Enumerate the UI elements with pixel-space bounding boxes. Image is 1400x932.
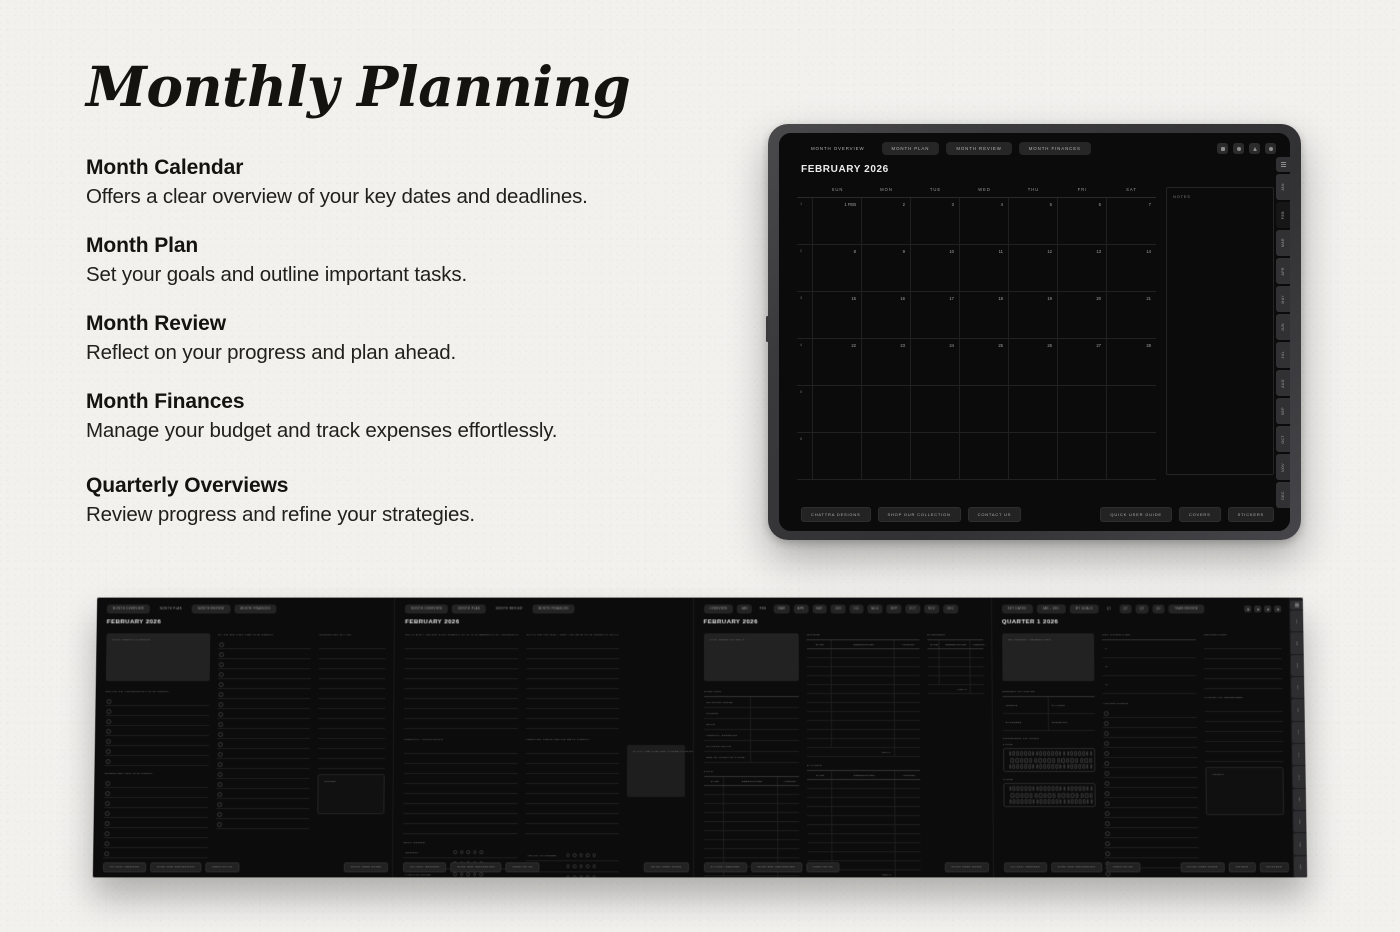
notes-box[interactable]: NOTES (1205, 767, 1284, 815)
tab-month-finances[interactable]: MONTH FINANCES (532, 605, 574, 614)
rating-dot[interactable] (573, 854, 577, 858)
habit-checkbox[interactable] (1040, 786, 1043, 791)
table-cell[interactable] (725, 849, 779, 857)
footer-chattra-designs[interactable]: CHATTRA DESIGNS (704, 862, 747, 872)
calendar-day-cell[interactable] (1107, 433, 1156, 479)
table-row[interactable] (704, 849, 800, 858)
habit-checkbox[interactable] (1017, 786, 1020, 791)
habit-checkbox[interactable] (1066, 793, 1069, 798)
tab-nov[interactable]: NOV (924, 605, 939, 614)
calendar-day-cell[interactable]: 16 (862, 292, 911, 338)
write-line[interactable] (1204, 732, 1283, 742)
habit-checkbox[interactable] (1075, 757, 1078, 762)
write-line[interactable] (526, 784, 619, 794)
habit-checkbox[interactable] (1020, 764, 1023, 769)
calendar-day-cell[interactable]: 11 (960, 245, 1009, 291)
checkbox-line[interactable] (1104, 788, 1198, 798)
habit-checkbox[interactable] (1013, 764, 1016, 769)
calendar-day-cell[interactable] (1009, 386, 1058, 432)
footer-quick-user-guide[interactable]: QUICK USER GUIDE (344, 862, 388, 872)
habit-checkbox[interactable] (1009, 751, 1012, 756)
tab-q1[interactable]: Q1 (1103, 605, 1116, 614)
tab-jun[interactable]: JUN (831, 605, 846, 614)
habit-checkbox[interactable] (1040, 751, 1043, 756)
table-row[interactable] (807, 780, 920, 789)
table-cell[interactable] (895, 798, 920, 806)
write-line[interactable] (404, 764, 518, 774)
write-line[interactable] (318, 739, 385, 749)
overview-row-value[interactable] (751, 719, 799, 729)
table-cell[interactable] (895, 789, 920, 797)
table-cell[interactable] (831, 658, 894, 666)
overview-row-value[interactable] (751, 697, 799, 707)
write-line[interactable] (526, 719, 619, 729)
table-row[interactable] (927, 667, 983, 676)
calendar-day-cell[interactable]: 9 (862, 245, 911, 291)
checkbox-line[interactable] (216, 759, 309, 769)
table-row[interactable] (807, 739, 920, 748)
habit-checkbox[interactable] (1051, 764, 1054, 769)
habit-checkbox[interactable] (1071, 764, 1074, 769)
table-cell[interactable] (807, 658, 832, 666)
habit-checkbox[interactable] (1062, 793, 1065, 798)
write-line[interactable] (318, 729, 385, 739)
table-cell[interactable] (895, 739, 920, 747)
checkbox-line[interactable] (1103, 708, 1196, 718)
habit-checkbox[interactable] (1009, 786, 1012, 791)
table-cell[interactable] (725, 831, 778, 839)
checkbox-line[interactable] (103, 828, 207, 838)
calendar-day-cell[interactable]: 13 (1058, 245, 1107, 291)
table-cell[interactable] (807, 825, 832, 833)
menu-icon[interactable] (1290, 601, 1303, 610)
side-tab-oct[interactable]: OCT (1293, 811, 1306, 832)
habit-checkbox[interactable] (1013, 799, 1016, 804)
tab-year-review[interactable]: YEAR REVIEW (1169, 605, 1205, 614)
write-line[interactable] (526, 699, 619, 709)
table-row[interactable] (704, 795, 799, 804)
table-row[interactable] (807, 843, 920, 852)
habit-checkbox[interactable] (1055, 764, 1058, 769)
table-cell[interactable] (895, 852, 920, 860)
habit-checkbox[interactable] (1009, 799, 1012, 804)
table-row[interactable] (704, 831, 800, 840)
write-line[interactable] (526, 689, 619, 699)
rating-dot[interactable] (566, 876, 570, 878)
self-score-row[interactable] (525, 872, 618, 877)
rating-dot[interactable] (592, 876, 596, 878)
table-row[interactable] (927, 676, 983, 685)
tab-jan-dec[interactable]: JAN - DEC (1036, 605, 1065, 614)
write-line[interactable] (318, 699, 385, 709)
checkbox-line[interactable] (216, 819, 310, 829)
table-cell[interactable] (807, 807, 832, 815)
write-line[interactable] (1204, 659, 1282, 669)
table-cell[interactable] (831, 685, 894, 693)
habit-checkbox[interactable] (1039, 793, 1042, 798)
table-cell[interactable] (778, 804, 799, 812)
habit-checkbox[interactable] (1075, 799, 1078, 804)
habit-checkbox[interactable] (1071, 799, 1074, 804)
table-cell[interactable] (832, 712, 895, 720)
calendar-day-cell[interactable]: 2 (862, 198, 911, 244)
tab-q4[interactable]: Q4 (1152, 605, 1165, 614)
table-cell[interactable] (832, 852, 895, 860)
write-line[interactable] (318, 759, 385, 769)
budget-cell-income[interactable]: INCOME (1002, 697, 1048, 713)
write-line[interactable] (526, 814, 619, 824)
habit-checkbox[interactable] (1090, 786, 1093, 791)
table-cell[interactable] (832, 843, 895, 851)
tab-month-finances[interactable]: MONTH FINANCES (1019, 142, 1091, 155)
calendar-day-cell[interactable]: 21 (1107, 292, 1156, 338)
checkbox-line[interactable] (218, 649, 311, 659)
write-line[interactable] (404, 774, 518, 784)
side-tab-apr[interactable]: APR (1291, 677, 1304, 698)
rating-dots[interactable] (454, 850, 484, 854)
self-score-row[interactable]: GROWTH (403, 847, 517, 858)
habit-checkbox[interactable] (1078, 751, 1081, 756)
footer-contact-us[interactable]: CONTACT US (968, 507, 1022, 522)
table-cell[interactable] (895, 721, 920, 729)
important-days-lines[interactable] (318, 639, 386, 769)
habit-checkbox[interactable] (1048, 786, 1051, 791)
table-cell[interactable] (832, 816, 895, 824)
overview-row[interactable]: SAVINGS GOALS (704, 741, 799, 752)
table-cell[interactable] (832, 789, 895, 797)
side-tab-aug[interactable]: AUG (1276, 370, 1290, 396)
table-cell[interactable] (895, 730, 920, 738)
table-cell[interactable] (832, 798, 895, 806)
intention-lines[interactable] (103, 778, 208, 858)
write-line[interactable] (404, 709, 518, 719)
top-priorities-list[interactable]: 1. 2. 3. (1102, 639, 1196, 694)
checkbox-line[interactable] (105, 736, 209, 746)
checkbox-line[interactable] (105, 726, 209, 736)
tab-month-plan[interactable]: MONTH PLAN (882, 142, 940, 155)
footer-covers[interactable]: COVERS (1228, 862, 1255, 872)
savings-table[interactable]: DATEDESCRIPTIONAMOUNTTOTAL (807, 770, 921, 877)
table-cell[interactable] (704, 831, 725, 839)
table-cell[interactable] (927, 649, 939, 657)
checkbox-line[interactable] (1104, 818, 1198, 828)
write-line[interactable] (405, 639, 519, 649)
write-line[interactable] (405, 679, 519, 689)
highlights-lines[interactable] (404, 744, 518, 834)
table-cell[interactable] (831, 667, 894, 675)
this-months-goal-box[interactable]: THIS MONTH'S GOAL (703, 633, 798, 681)
calendar-day-cell[interactable] (862, 433, 911, 479)
write-line[interactable] (1204, 712, 1283, 722)
habit-checkbox[interactable] (1020, 793, 1023, 798)
habit-checkbox[interactable] (1079, 799, 1082, 804)
calendar-day-cell[interactable]: 20 (1058, 292, 1107, 338)
side-tab-nov[interactable]: NOV (1293, 833, 1306, 854)
checkbox-line[interactable] (216, 779, 310, 789)
table-row[interactable] (807, 789, 920, 798)
footer-chattra-designs[interactable]: CHATTRA DESIGNS (801, 507, 871, 522)
table-cell[interactable] (895, 807, 920, 815)
overview-row-value[interactable] (751, 708, 799, 718)
calendar-day-cell[interactable]: 4 (960, 198, 1009, 244)
write-line[interactable] (318, 689, 385, 699)
table-cell[interactable] (704, 849, 725, 857)
total-value[interactable] (778, 876, 799, 877)
side-tab-jun[interactable]: JUN (1276, 314, 1290, 340)
write-line[interactable] (1203, 639, 1281, 649)
write-line[interactable] (526, 649, 619, 659)
table-cell[interactable] (724, 804, 777, 812)
footer-shop-our-collection[interactable]: SHOP OUR COLLECTION (878, 507, 961, 522)
table-cell[interactable] (778, 831, 799, 839)
overview-row[interactable]: STARTING FUNDS (703, 697, 798, 708)
overview-row[interactable]: BILLS (703, 719, 798, 730)
footer-chattra-designs[interactable]: CHATTRA DESIGNS (1004, 862, 1047, 872)
habit-checkbox[interactable] (1044, 799, 1047, 804)
table-cell[interactable] (940, 658, 971, 666)
checkbox-line[interactable] (1104, 798, 1198, 808)
table-cell[interactable] (724, 795, 777, 803)
table-cell[interactable] (778, 849, 799, 857)
table-cell[interactable] (927, 667, 939, 675)
table-cell[interactable] (895, 843, 920, 851)
write-line[interactable] (404, 824, 518, 834)
table-cell[interactable] (778, 795, 799, 803)
table-cell[interactable] (971, 667, 983, 675)
habit-checkbox[interactable] (1020, 751, 1023, 756)
table-cell[interactable] (807, 649, 832, 657)
habit-checkbox[interactable] (1063, 751, 1066, 756)
side-tab-jun[interactable]: JUN (1292, 722, 1305, 743)
table-row[interactable] (807, 807, 920, 816)
write-line[interactable] (526, 824, 619, 834)
budget-cell-savings[interactable]: SAVINGS (1049, 697, 1095, 713)
table-cell[interactable] (832, 780, 895, 788)
table-cell[interactable] (831, 649, 894, 657)
checkbox-line[interactable] (104, 798, 208, 808)
habit-checkbox[interactable] (1015, 757, 1018, 762)
tab-q3[interactable]: Q3 (1136, 605, 1149, 614)
calendar-day-cell[interactable] (813, 433, 862, 479)
habit-checkbox[interactable] (1067, 799, 1070, 804)
table-row[interactable] (807, 703, 920, 712)
habit-checkbox[interactable] (1059, 764, 1062, 769)
habit-checkbox[interactable] (1051, 751, 1054, 756)
habit-checkbox[interactable] (1011, 757, 1014, 762)
table-cell[interactable] (895, 816, 920, 824)
write-line[interactable] (526, 804, 619, 814)
table-cell[interactable] (807, 676, 832, 684)
looking-forward-lines[interactable] (526, 744, 619, 834)
habit-checkbox[interactable] (1020, 757, 1023, 762)
habit-checkbox[interactable] (1036, 751, 1039, 756)
write-line[interactable] (526, 754, 619, 764)
habit-checkbox[interactable] (1071, 757, 1074, 762)
habit-checkbox[interactable] (1016, 793, 1019, 798)
side-tab-apr[interactable]: APR (1276, 258, 1290, 284)
table-row[interactable] (807, 721, 920, 730)
write-line[interactable] (526, 669, 619, 679)
budget-cell-spending[interactable]: SPENDING (1049, 714, 1095, 730)
habit-checkbox[interactable] (1089, 757, 1092, 762)
tab-month-review[interactable]: MONTH REVIEW (490, 605, 528, 614)
budget-planning-table[interactable]: INCOME SAVINGS EXPENSES SPENDING (1002, 696, 1095, 731)
side-tab-mar[interactable]: MAR (1291, 655, 1304, 676)
checkbox-line[interactable] (104, 808, 208, 818)
rating-dot[interactable] (460, 873, 464, 877)
table-row[interactable] (704, 822, 800, 831)
write-line[interactable] (526, 709, 619, 719)
habit-checkbox[interactable] (1048, 799, 1051, 804)
calendar-day-cell[interactable]: 12 (1009, 245, 1058, 291)
table-cell[interactable] (778, 840, 799, 848)
table-cell[interactable] (831, 703, 894, 711)
settings-icon[interactable] (1265, 143, 1276, 154)
checkbox-line[interactable] (103, 838, 207, 848)
table-cell[interactable] (704, 813, 725, 821)
habit-checkbox[interactable] (1032, 764, 1035, 769)
calendar-day-cell[interactable] (1009, 433, 1058, 479)
habit-checkbox[interactable] (1057, 793, 1060, 798)
table-cell[interactable] (894, 649, 919, 657)
calendar-day-cell[interactable]: 3 (911, 198, 960, 244)
habit-checkbox[interactable] (1070, 751, 1073, 756)
checkbox-line[interactable] (216, 799, 310, 809)
rating-dot[interactable] (454, 850, 458, 854)
habit-checkbox[interactable] (1052, 786, 1055, 791)
habit-checkbox[interactable] (1055, 799, 1058, 804)
clock-icon[interactable] (1233, 143, 1244, 154)
habit-checkbox[interactable] (1017, 764, 1020, 769)
habit-checkbox[interactable] (1044, 764, 1047, 769)
camera-icon[interactable] (1217, 143, 1228, 154)
table-cell[interactable] (778, 786, 799, 794)
habit-checkbox[interactable] (1078, 764, 1081, 769)
side-tab-sep[interactable]: SEP (1276, 398, 1290, 424)
table-row[interactable] (807, 685, 920, 694)
budget-cell-expenses[interactable]: EXPENSES (1003, 714, 1049, 730)
habit-checkbox[interactable] (1043, 793, 1046, 798)
footer-quick-user-guide[interactable]: QUICK USER GUIDE (944, 862, 988, 872)
table-cell[interactable] (832, 834, 895, 842)
habit-checkbox[interactable] (1052, 799, 1055, 804)
tab-month-finances[interactable]: MONTH FINANCES (234, 605, 276, 614)
side-tab-sep[interactable]: SEP (1293, 789, 1306, 810)
habit-checkbox[interactable] (1021, 799, 1024, 804)
checkbox-line[interactable] (217, 699, 310, 709)
rating-dot[interactable] (592, 854, 596, 858)
checkbox-line[interactable] (216, 789, 310, 799)
table-cell[interactable] (895, 825, 920, 833)
write-line[interactable] (1204, 679, 1283, 689)
table-row[interactable] (807, 798, 920, 807)
habit-checkbox[interactable] (1066, 757, 1069, 762)
rating-dot[interactable] (480, 850, 484, 854)
reflections-lines[interactable] (1203, 639, 1282, 689)
rating-dots[interactable] (566, 854, 596, 858)
table-cell[interactable] (832, 825, 895, 833)
table-cell[interactable] (807, 730, 832, 738)
table-row[interactable] (807, 694, 920, 703)
priority-1[interactable]: 1. (1102, 640, 1195, 657)
habit-checkbox[interactable] (1090, 764, 1093, 769)
footer-chattra-designs[interactable]: CHATTRA DESIGNS (103, 862, 146, 872)
write-line[interactable] (404, 814, 518, 824)
habit-checkbox[interactable] (1040, 799, 1043, 804)
checkbox-line[interactable] (1103, 758, 1196, 768)
table-cell[interactable] (724, 786, 777, 794)
table-row[interactable] (807, 834, 920, 843)
calendar-day-cell[interactable]: 22 (813, 339, 862, 385)
footer-shop-our-collection[interactable]: SHOP OUR COLLECTION (1051, 862, 1102, 872)
tab-mar[interactable]: MAR (774, 605, 789, 614)
camera-icon[interactable] (1244, 606, 1251, 613)
table-cell[interactable] (895, 780, 920, 788)
table-row[interactable] (807, 667, 920, 676)
calendar-day-cell[interactable] (960, 433, 1009, 479)
habit-checkbox[interactable] (1032, 799, 1035, 804)
table-cell[interactable] (725, 822, 778, 830)
calendar-day-cell[interactable]: 18 (960, 292, 1009, 338)
write-line[interactable] (404, 744, 518, 754)
checkbox-line[interactable] (105, 746, 209, 756)
table-cell[interactable] (704, 822, 725, 830)
habit-checkbox[interactable] (1013, 751, 1016, 756)
table-row[interactable] (704, 813, 799, 822)
habit-checkbox[interactable] (1024, 751, 1027, 756)
habit-checkbox[interactable] (1074, 764, 1077, 769)
table-row[interactable] (927, 658, 983, 667)
rating-dot[interactable] (473, 850, 477, 854)
habit-checkbox[interactable] (1076, 793, 1079, 798)
table-cell[interactable] (895, 712, 920, 720)
table-cell[interactable] (807, 685, 832, 693)
side-tab-feb[interactable]: FEB (1290, 633, 1303, 654)
tab-feb[interactable]: FEB (756, 605, 771, 614)
habit-checkbox[interactable] (1080, 757, 1083, 762)
habit-checkbox[interactable] (1028, 786, 1031, 791)
write-line[interactable] (404, 699, 518, 709)
habit-checkbox[interactable] (1055, 786, 1058, 791)
habit-checkbox[interactable] (1086, 751, 1089, 756)
tab-dec[interactable]: DEC (943, 605, 958, 614)
write-line[interactable] (404, 804, 518, 814)
calendar-day-cell[interactable]: 14 (1107, 245, 1156, 291)
tab-aug[interactable]: AUG (868, 605, 883, 614)
habit-checkbox[interactable] (1028, 764, 1031, 769)
side-tab-dec[interactable]: DEC (1294, 856, 1307, 877)
habit-checkbox[interactable] (1090, 751, 1093, 756)
tab-may[interactable]: MAY (812, 605, 827, 614)
checkbox-line[interactable] (217, 689, 310, 699)
table-cell[interactable] (807, 739, 832, 747)
habit-checkbox[interactable] (1036, 786, 1039, 791)
write-line[interactable] (404, 719, 518, 729)
write-line[interactable] (319, 669, 386, 679)
footer-covers[interactable]: COVERS (1179, 507, 1221, 522)
write-line[interactable] (405, 689, 519, 699)
rating-dot[interactable] (480, 873, 484, 877)
table-cell[interactable] (704, 804, 725, 812)
table-cell[interactable] (704, 795, 725, 803)
this-months-focus-box[interactable]: THIS MONTH'S FOCUS (106, 633, 210, 681)
table-row[interactable] (807, 816, 920, 825)
checkbox-line[interactable] (217, 679, 310, 689)
table-cell[interactable] (807, 816, 832, 824)
table-cell[interactable] (725, 840, 779, 848)
checkbox-line[interactable] (216, 769, 310, 779)
habit-checkbox[interactable] (1079, 786, 1082, 791)
